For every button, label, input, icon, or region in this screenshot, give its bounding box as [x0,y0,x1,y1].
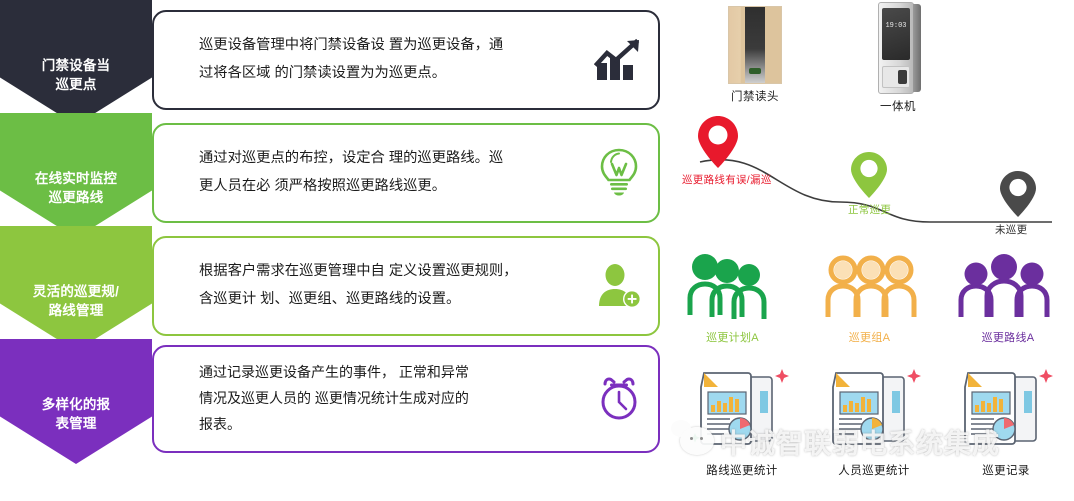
device-all-in-one-terminal: 19:03 一体机 [875,2,921,114]
report-document-icon [954,361,1058,455]
report-label: 巡更记录 [942,462,1070,478]
step-row-4: 多样化的报 表管理 通过记录巡更设备产生的事件， 正常和异常 情况及巡更人员的 … [0,339,670,459]
step-row-3: 灵活的巡更规/ 路线管理 根据客户需求在巡更管理中自 定义设置巡更规则， 含巡更… [0,226,670,346]
terminal-keypad [882,66,910,88]
pin-label-route-error: 巡更路线有误/漏巡 [682,172,772,187]
step-card-2[interactable]: 通过对巡更点的布控，设定合 理的巡更路线。巡 更人员在必 须严格按照巡更路线巡更… [152,123,660,223]
devices-row: 门禁读头 19:03 一体机 [670,0,1074,110]
report-label: 人员巡更统计 [810,462,938,478]
terminal-side [913,4,921,92]
step-card-1[interactable]: 巡更设备管理中将门禁设备设 置为巡更设备，通 过将各区域 的门禁读设置为为巡更点… [152,10,660,110]
reports-row: 路线巡更统计 [670,357,1074,501]
pin-label-normal-patrol: 正常巡更 [848,202,891,217]
three-people-icon [822,255,930,321]
step-chevron-3[interactable]: 灵活的巡更规/ 路线管理 [0,226,152,351]
step-chevron-label-4: 多样化的报 表管理 [16,395,136,464]
report-label: 路线巡更统计 [678,462,806,478]
alarm-clock-icon [580,347,658,451]
people-groups-row: 巡更计划A 巡更组A [670,245,1074,357]
add-user-icon [580,238,658,334]
step-chevron-1[interactable]: 门禁设备当 巡更点 [0,0,152,125]
people-group-patrol-plan: 巡更计划A [680,249,795,345]
step-row-2: 在线实时监控 巡更路线 通过对巡更点的布控，设定合 理的巡更路线。巡 更人员在必… [0,113,670,233]
device-caption: 门禁读头 [728,88,782,104]
report-route-patrol-statistics: 路线巡更统计 [678,361,806,478]
report-document-icon [690,361,794,455]
step-row-1: 门禁设备当 巡更点 巡更设备管理中将门禁设备设 置为巡更设备，通 过将各区域 的… [0,0,670,120]
report-patrol-records: 巡更记录 [942,361,1070,478]
step-chevron-2[interactable]: 在线实时监控 巡更路线 [0,113,152,238]
people-group-patrol-group: 巡更组A [818,255,933,345]
pin-normal-patrol [851,152,887,198]
report-personnel-patrol-statistics: 人员巡更统计 [810,361,938,478]
patrol-route-map: 巡更路线有误/漏巡 正常巡更 未巡更 [670,110,1074,245]
three-people-icon [955,253,1067,321]
three-people-icon [684,249,792,321]
step-card-3[interactable]: 根据客户需求在巡更管理中自 定义设置巡更规则， 含巡更计 划、巡更组、巡更路线的… [152,236,660,336]
terminal-screen: 19:03 [882,8,910,60]
illustration-panel: 门禁读头 19:03 一体机 [670,0,1074,501]
growth-chart-icon [580,12,658,108]
people-group-label: 巡更计划A [670,329,795,345]
step-card-text-4: 通过记录巡更设备产生的事件， 正常和异常 情况及巡更人员的 巡更情况统计生成对应… [154,360,580,438]
step-card-text-2: 通过对巡更点的布控，设定合 理的巡更路线。巡 更人员在必 须严格按照巡更路线巡更… [154,145,580,201]
step-chevron-4[interactable]: 多样化的报 表管理 [0,339,152,464]
people-group-label: 巡更组A [806,329,933,345]
terminal-image: 19:03 [875,2,921,94]
report-document-icon [822,361,926,455]
infographic-canvas: 门禁设备当 巡更点 巡更设备管理中将门禁设备设 置为巡更设备，通 过将各区域 的… [0,0,1074,501]
door-reader-image [728,6,782,84]
process-steps-panel: 门禁设备当 巡更点 巡更设备管理中将门禁设备设 置为巡更设备，通 过将各区域 的… [0,0,670,501]
lightbulb-icon [580,125,658,221]
step-card-text-1: 巡更设备管理中将门禁设备设 置为巡更设备，通 过将各区域 的门禁读设置为为巡更点… [154,32,580,88]
pin-not-patrolled [1000,171,1036,217]
people-group-label: 巡更路线A [946,329,1070,345]
people-group-patrol-route: 巡更路线A [952,253,1070,345]
step-card-4[interactable]: 通过记录巡更设备产生的事件， 正常和异常 情况及巡更人员的 巡更情况统计生成对应… [152,345,660,453]
step-card-text-3: 根据客户需求在巡更管理中自 定义设置巡更规则， 含巡更计 划、巡更组、巡更路线的… [154,258,580,314]
pin-label-not-patrolled: 未巡更 [995,222,1027,237]
device-door-access-reader: 门禁读头 [728,6,782,104]
